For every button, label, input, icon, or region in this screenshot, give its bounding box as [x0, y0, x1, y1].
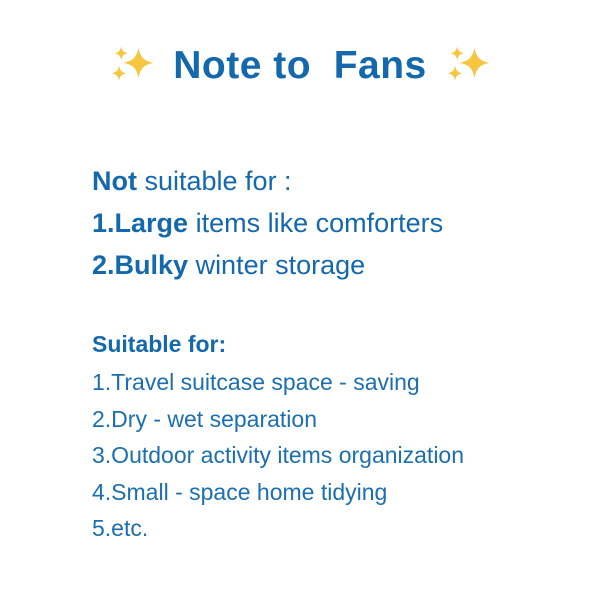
- suitable-heading: Suitable for:: [92, 326, 464, 362]
- suitable-item-1: 1.Travel suitcase space - saving: [92, 364, 464, 401]
- not-suitable-heading-strong: Not: [92, 166, 137, 196]
- suitable-block: Suitable for: 1.Travel suitcase space - …: [92, 326, 464, 547]
- suitable-item-2: 2.Dry - wet separation: [92, 401, 464, 438]
- not-suitable-heading: Not suitable for :: [92, 160, 443, 202]
- not-suitable-heading-rest: suitable for :: [137, 166, 292, 196]
- not-suitable-item-2-strong: Bulky: [115, 250, 189, 280]
- not-suitable-item-1-rest: items like comforters: [188, 208, 443, 238]
- not-suitable-item-2-number: 2.: [92, 250, 115, 280]
- not-suitable-item-2-rest: winter storage: [188, 250, 365, 280]
- not-suitable-item-2: 2.Bulky winter storage: [92, 244, 443, 286]
- not-suitable-item-1: 1.Large items like comforters: [92, 202, 443, 244]
- suitable-item-5: 5.etc.: [92, 510, 464, 547]
- not-suitable-block: Not suitable for : 1.Large items like co…: [92, 160, 443, 286]
- suitable-item-4: 4.Small - space home tidying: [92, 474, 464, 511]
- page-title-row: Note to Fans: [0, 42, 600, 88]
- sparkles-icon-left: [109, 42, 155, 88]
- suitable-item-3: 3.Outdoor activity items organization: [92, 437, 464, 474]
- not-suitable-item-1-strong: Large: [115, 208, 189, 238]
- not-suitable-item-1-number: 1.: [92, 208, 115, 238]
- sparkles-icon-right: [445, 42, 491, 88]
- note-to-fans-card: Note to Fans Not suitable for : 1.Large …: [0, 0, 600, 600]
- page-title: Note to Fans: [173, 46, 427, 85]
